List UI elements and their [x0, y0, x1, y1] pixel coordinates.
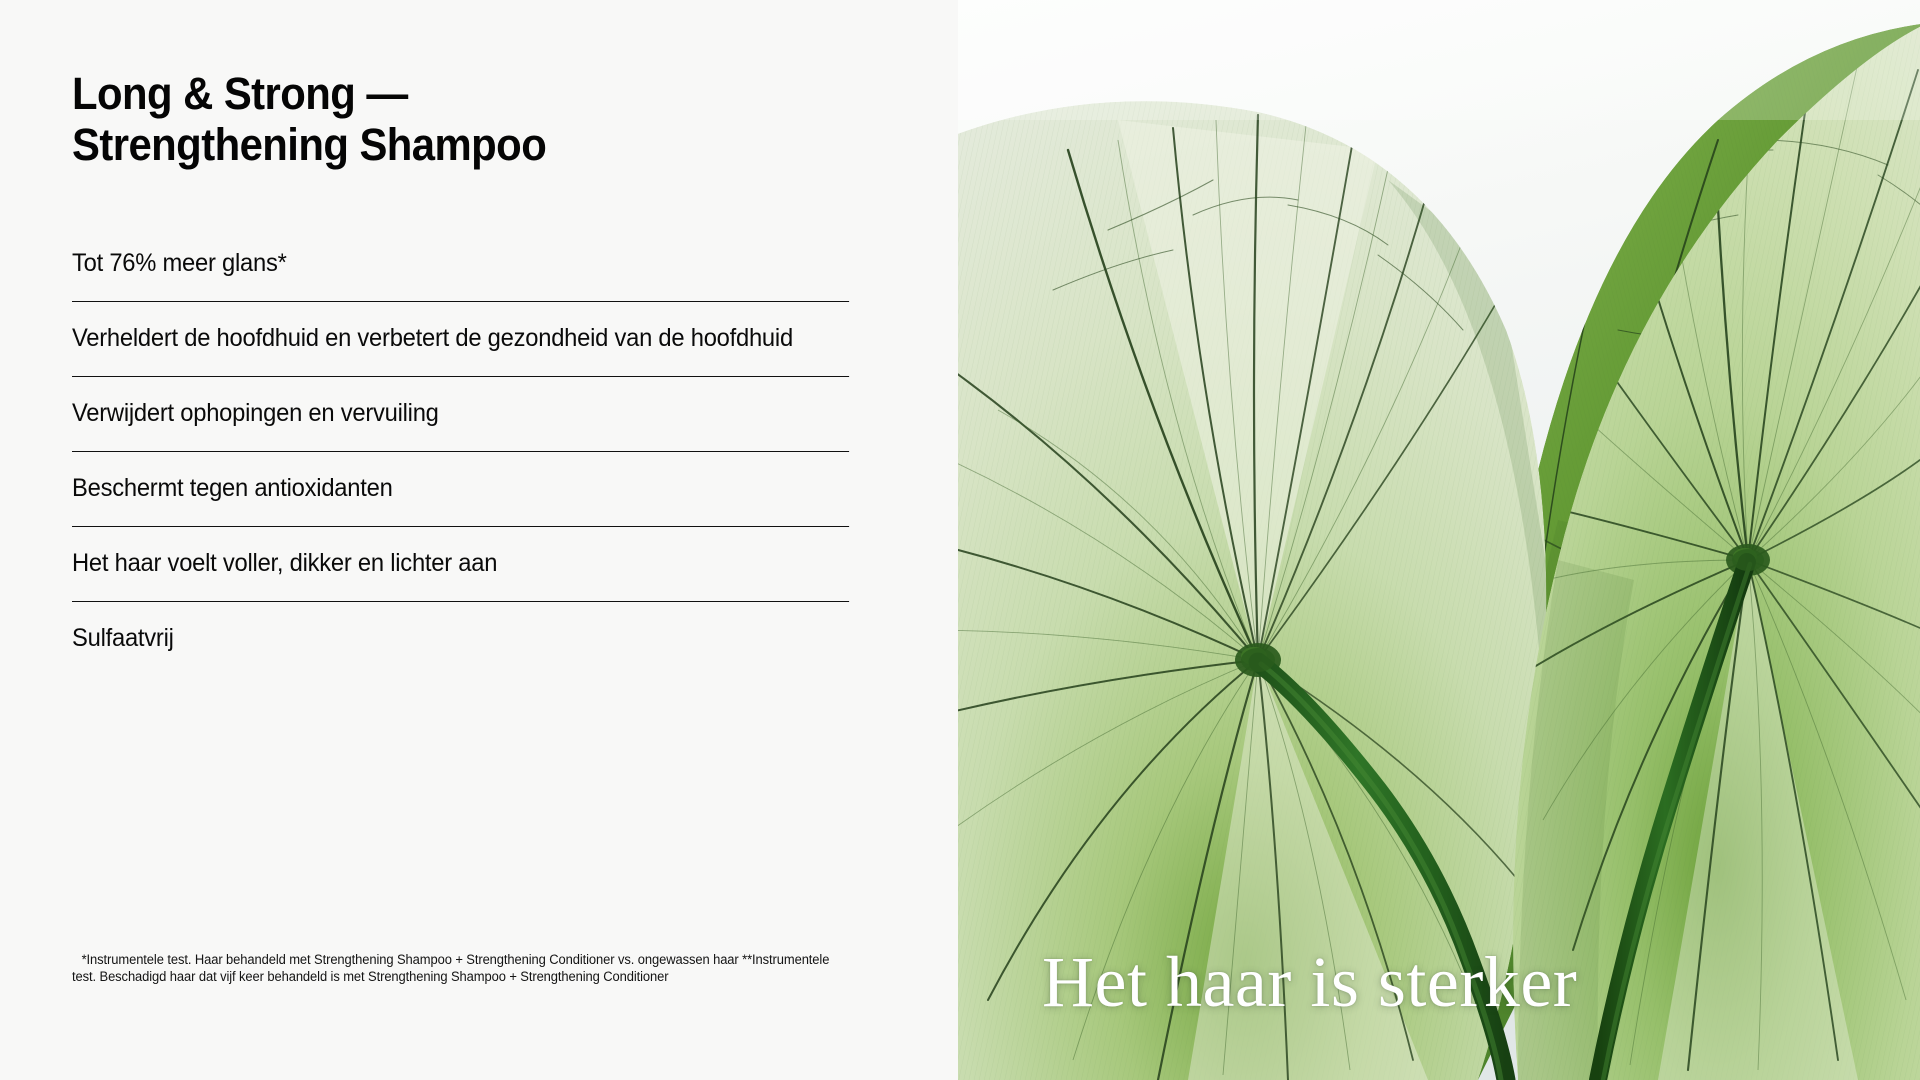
footnote-disclaimer: *Instrumentele test. Haar behandeld met …	[72, 952, 854, 985]
product-info-panel: Long & Strong — Strengthening Shampoo To…	[0, 0, 958, 1080]
translucent-green-leaves-photo	[958, 0, 1920, 1080]
list-item: Het haar voelt voller, dikker en lichter…	[72, 526, 849, 601]
list-item: Beschermt tegen antioxidanten	[72, 451, 849, 526]
product-image-panel: Het haar is sterker	[958, 0, 1920, 1080]
product-slide: Long & Strong — Strengthening Shampoo To…	[0, 0, 1920, 1080]
list-item: Tot 76% meer glans*	[72, 248, 849, 301]
benefit-list: Tot 76% meer glans* Verheldert de hoofdh…	[72, 248, 890, 654]
page-title: Long & Strong — Strengthening Shampoo	[72, 68, 890, 170]
list-item: Verheldert de hoofdhuid en verbetert de …	[72, 301, 849, 376]
list-item: Verwijdert ophopingen en vervuiling	[72, 376, 849, 451]
list-item: Sulfaatvrij	[72, 601, 849, 654]
